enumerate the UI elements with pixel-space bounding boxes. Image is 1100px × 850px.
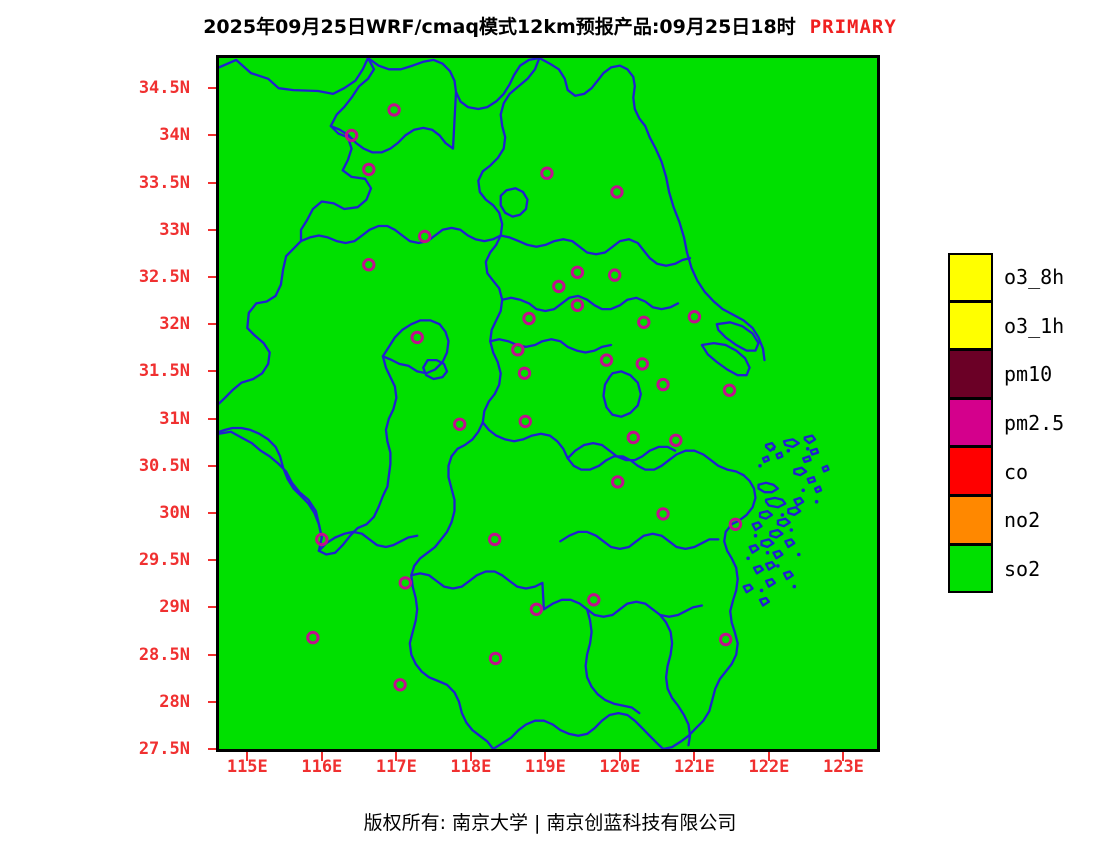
legend-item-label: o3_8h [1004,265,1064,289]
legend-item-label: so2 [1004,557,1040,581]
footer-separator: | [528,812,546,834]
x-axis-tick-mark [544,752,546,761]
y-axis-label: 28.5N [139,645,190,665]
station-marker[interactable] [524,313,534,323]
station-marker[interactable] [412,332,422,342]
y-axis-label: 27.5N [139,739,190,759]
station-marker[interactable] [724,385,734,395]
y-axis-label: 33N [159,220,190,240]
station-marker[interactable] [601,355,611,365]
station-marker[interactable] [364,260,374,270]
station-marker[interactable] [612,187,622,197]
station-marker[interactable] [671,435,681,445]
station-marker[interactable] [490,534,500,544]
x-axis-tick-mark [395,752,397,761]
station-marker[interactable] [610,270,620,280]
x-axis-tick-mark [842,752,844,761]
y-axis-label: 34.5N [139,78,190,98]
legend-item-label: o3_1h [1004,314,1064,338]
y-axis-ticks: 34.5N34N33.5N33N32.5N32N31.5N31N30.5N30N… [0,0,216,850]
station-marker[interactable] [420,231,430,241]
station-marker[interactable] [721,634,731,644]
y-axis-label: 28N [159,692,190,712]
station-marker[interactable] [637,359,647,369]
y-axis-label: 30N [159,503,190,523]
y-axis-label: 29.5N [139,550,190,570]
station-marker[interactable] [613,477,623,487]
legend-color-swatch [948,447,993,496]
y-axis-label: 33.5N [139,173,190,193]
y-axis-label: 29N [159,597,190,617]
page-title-badge: PRIMARY [810,16,897,38]
station-marker[interactable] [519,368,529,378]
station-marker[interactable] [589,595,599,605]
y-axis-label: 32.5N [139,267,190,287]
x-axis-tick-mark [693,752,695,761]
station-marker[interactable] [395,680,405,690]
station-marker[interactable] [520,416,530,426]
station-marker[interactable] [554,281,564,291]
station-marker[interactable] [400,578,410,588]
legend-item-label: no2 [1004,508,1040,532]
legend-color-swatch [948,399,993,448]
y-axis-label: 34N [159,125,190,145]
x-axis-tick-mark [619,752,621,761]
y-axis-label: 30.5N [139,456,190,476]
legend-color-swatch [948,350,993,399]
x-axis-tick-mark [470,752,472,761]
x-axis-tick-mark [321,752,323,761]
station-marker[interactable] [572,267,582,277]
station-marker[interactable] [490,653,500,663]
station-marker[interactable] [308,632,318,642]
map-vector-layer [219,58,877,749]
station-marker[interactable] [531,604,541,614]
legend-color-swatch [948,545,993,594]
page-title-main: 2025年09月25日WRF/cmaq模式12km预报产品:09月25日18时 [203,16,796,38]
station-marker[interactable] [572,300,582,310]
legend-color-swatch [948,302,993,351]
station-marker[interactable] [542,168,552,178]
x-axis-tick-mark [246,752,248,761]
station-marker[interactable] [364,164,374,174]
station-marker[interactable] [658,509,668,519]
legend-color-swatch [948,496,993,545]
legend-item-label: co [1004,460,1028,484]
x-axis-tick-mark [768,752,770,761]
map-plot-area[interactable] [216,55,880,752]
station-marker[interactable] [658,379,668,389]
station-marker[interactable] [389,105,399,115]
y-axis-label: 32N [159,314,190,334]
station-marker[interactable] [689,312,699,322]
legend-item-label: pm10 [1004,362,1052,386]
footer-copyright: 版权所有: 南京大学|南京创蓝科技有限公司 [0,808,1100,835]
province-border-lines [219,58,829,749]
station-marker[interactable] [628,432,638,442]
station-marker[interactable] [455,419,465,429]
legend-color-swatch [948,253,993,302]
footer-copyright-text: 版权所有: 南京大学 [364,812,528,834]
y-axis-label: 31N [159,409,190,429]
footer-company-text: 南京创蓝科技有限公司 [546,812,736,834]
station-marker[interactable] [639,317,649,327]
y-axis-label: 31.5N [139,361,190,381]
forecast-map-page: 2025年09月25日WRF/cmaq模式12km预报产品:09月25日18时P… [0,0,1100,850]
legend-item-label: pm2.5 [1004,411,1064,435]
